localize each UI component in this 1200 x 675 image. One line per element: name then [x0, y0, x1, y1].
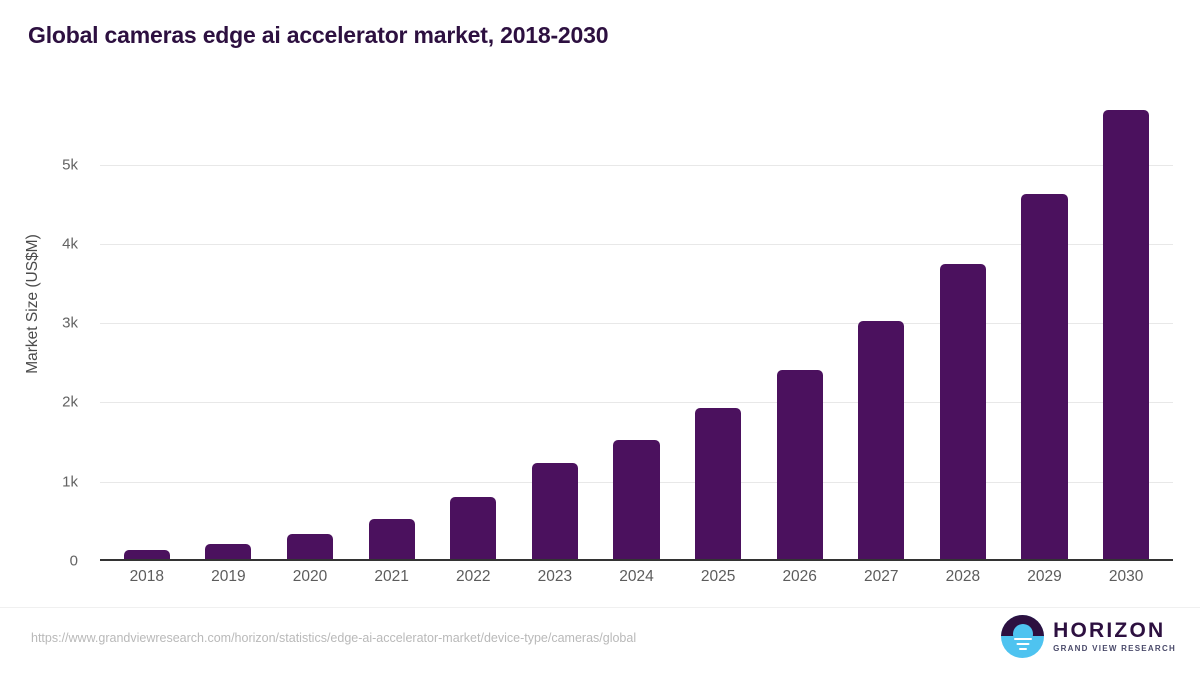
bar-2024[interactable]	[613, 440, 659, 560]
bar-2023[interactable]	[532, 463, 578, 560]
bar-slot	[922, 95, 1004, 560]
bar-2021[interactable]	[369, 519, 415, 560]
x-axis-tick-2027: 2027	[840, 568, 922, 586]
source-url[interactable]: https://www.grandviewresearch.com/horizo…	[31, 631, 636, 645]
bar-2020[interactable]	[287, 534, 333, 560]
bar-2025[interactable]	[695, 408, 741, 560]
bar-2030[interactable]	[1103, 110, 1149, 560]
bar-slot	[759, 95, 841, 560]
x-axis-tick-2024: 2024	[596, 568, 678, 586]
bar-slot	[351, 95, 433, 560]
bar-slot	[432, 95, 514, 560]
x-axis-tick-2028: 2028	[922, 568, 1004, 586]
x-axis-line	[100, 559, 1173, 561]
logo-wordmark: HORIZON	[1053, 620, 1176, 641]
bar-2028[interactable]	[940, 264, 986, 560]
x-axis-tick-2026: 2026	[759, 568, 841, 586]
bar-slot	[1085, 95, 1167, 560]
horizon-sun-icon	[1001, 615, 1044, 658]
y-axis-tick: 2k	[62, 394, 78, 411]
bar-2027[interactable]	[858, 321, 904, 560]
x-axis-tick-2022: 2022	[432, 568, 514, 586]
x-axis-tick-2020: 2020	[269, 568, 351, 586]
chart-page: Global cameras edge ai accelerator marke…	[0, 0, 1200, 675]
x-axis-tick-2025: 2025	[677, 568, 759, 586]
bar-slot	[840, 95, 922, 560]
y-axis-tick: 4k	[62, 235, 78, 252]
x-axis-tick-2019: 2019	[188, 568, 270, 586]
plot-area	[100, 95, 1173, 561]
bar-2029[interactable]	[1021, 194, 1067, 560]
logo-tagline: GRAND VIEW RESEARCH	[1053, 645, 1176, 653]
bar-slot	[269, 95, 351, 560]
bar-slot	[677, 95, 759, 560]
x-axis-tick-2029: 2029	[1004, 568, 1086, 586]
bar-2019[interactable]	[205, 544, 251, 560]
bar-slot	[106, 95, 188, 560]
y-axis-tick-labels: 01k2k3k4k5k	[0, 95, 92, 561]
y-axis-tick: 3k	[62, 315, 78, 332]
bar-slot	[188, 95, 270, 560]
x-axis-tick-2030: 2030	[1085, 568, 1167, 586]
bar-slot	[596, 95, 678, 560]
bar-2022[interactable]	[450, 497, 496, 560]
bar-series	[100, 95, 1173, 560]
x-axis-tick-2021: 2021	[351, 568, 433, 586]
bar-slot	[514, 95, 596, 560]
logo-text: HORIZON GRAND VIEW RESEARCH	[1053, 620, 1176, 653]
bar-2026[interactable]	[777, 370, 823, 560]
x-axis-tick-2018: 2018	[106, 568, 188, 586]
page-title: Global cameras edge ai accelerator marke…	[28, 22, 608, 49]
footer-divider	[0, 607, 1200, 608]
y-axis-tick: 0	[70, 553, 78, 570]
bar-slot	[1004, 95, 1086, 560]
x-axis-tick-labels: 2018201920202021202220232024202520262027…	[100, 568, 1173, 586]
x-axis-tick-2023: 2023	[514, 568, 596, 586]
horizon-logo: HORIZON GRAND VIEW RESEARCH	[1001, 614, 1176, 658]
y-axis-tick: 5k	[62, 156, 78, 173]
y-axis-tick: 1k	[62, 473, 78, 490]
